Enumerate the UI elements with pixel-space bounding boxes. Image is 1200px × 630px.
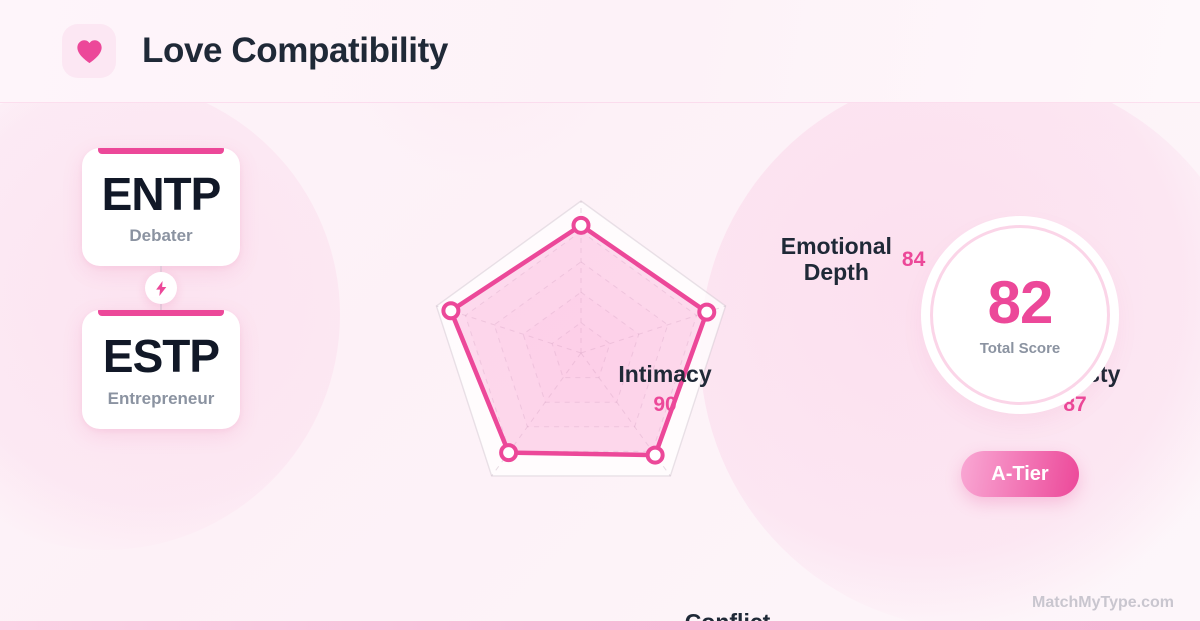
type-connector [82,266,240,310]
poster-canvas: Love Compatibility ENTP Debater ESTP Ent… [0,0,1200,630]
total-score-ring: 82 Total Score [930,225,1110,405]
page-title: Love Compatibility [142,31,448,71]
type-code-second: ESTP [90,332,232,380]
personality-type-stack: ENTP Debater ESTP Entrepreneur [82,148,240,429]
radar-chart-svg [290,110,870,610]
lightning-bolt-icon [145,272,177,304]
header-bar: Love Compatibility [0,0,1200,103]
tier-badge: A-Tier [961,451,1079,497]
type-name-second: Entrepreneur [90,389,232,409]
type-code-first: ENTP [90,170,232,218]
score-panel: 82 Total Score A-Tier [915,225,1125,497]
type-card-first[interactable]: ENTP Debater [82,148,240,266]
type-card-second[interactable]: ESTP Entrepreneur [82,310,240,428]
watermark: MatchMyType.com [1032,594,1174,612]
total-score-caption: Total Score [980,340,1061,357]
type-name-first: Debater [90,226,232,246]
radar-chart: Emotional Depth84 Honesty 87 Intimacy 90… [290,110,870,610]
total-score-value: 82 [988,273,1053,333]
heart-icon [62,24,116,78]
footer-bar [0,621,1200,630]
